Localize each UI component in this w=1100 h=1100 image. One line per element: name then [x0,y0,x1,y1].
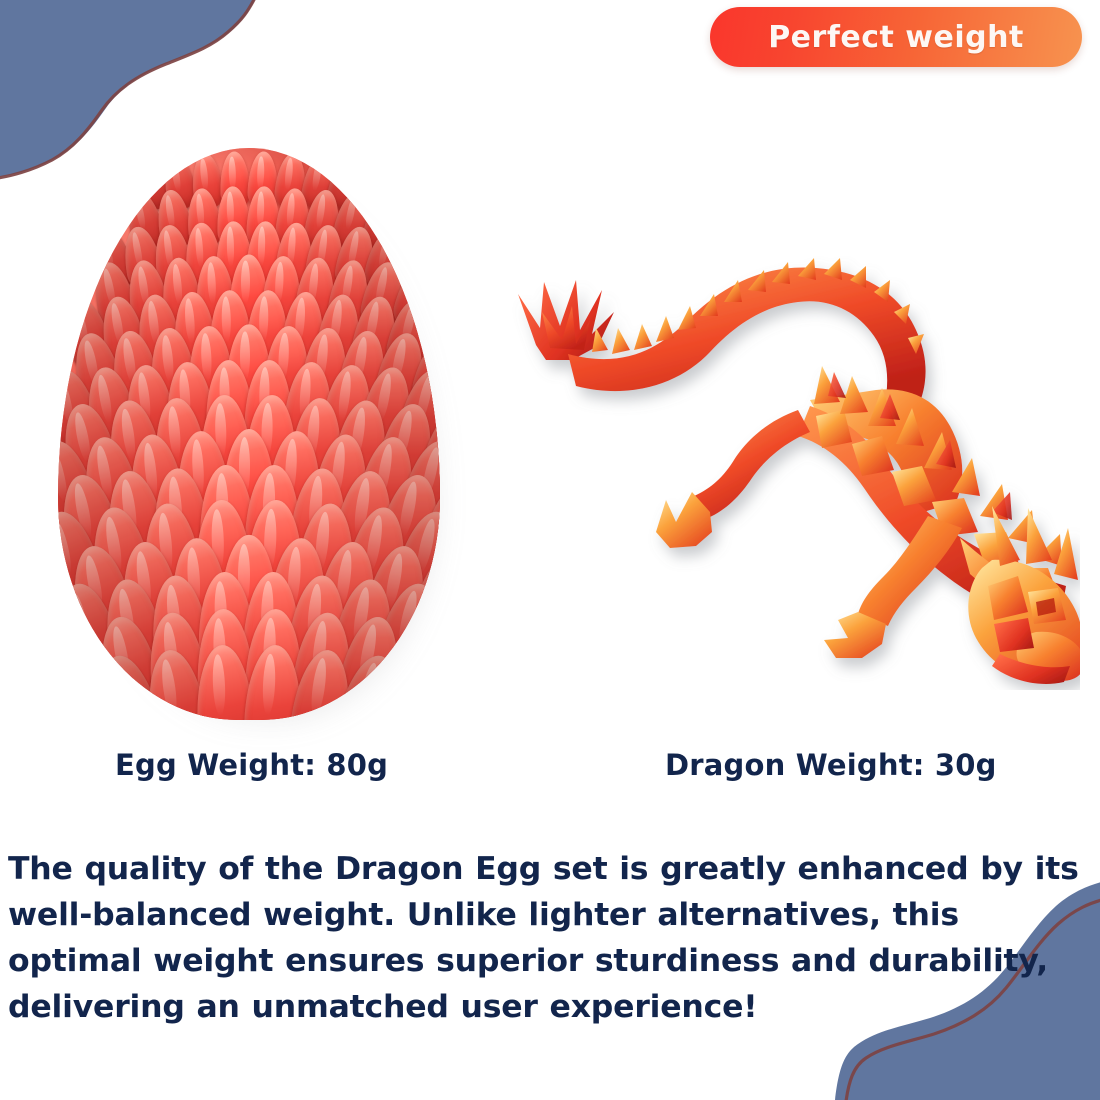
description-paragraph: The quality of the Dragon Egg set is gre… [8,846,1098,1030]
dragon-front-leg [694,410,810,518]
egg-scale-pattern [58,148,440,720]
dragon-weight-caption: Dragon Weight: 30g [665,748,997,782]
badge-label: Perfect weight [768,20,1024,55]
egg-body [58,148,440,720]
crystal-dragon-image [480,220,1080,690]
perfect-weight-badge: Perfect weight [710,7,1082,67]
dragon-egg-image [52,130,448,720]
egg-weight-caption: Egg Weight: 80g [115,748,388,782]
product-stage [0,100,1100,760]
dragon-figure [518,258,1080,684]
